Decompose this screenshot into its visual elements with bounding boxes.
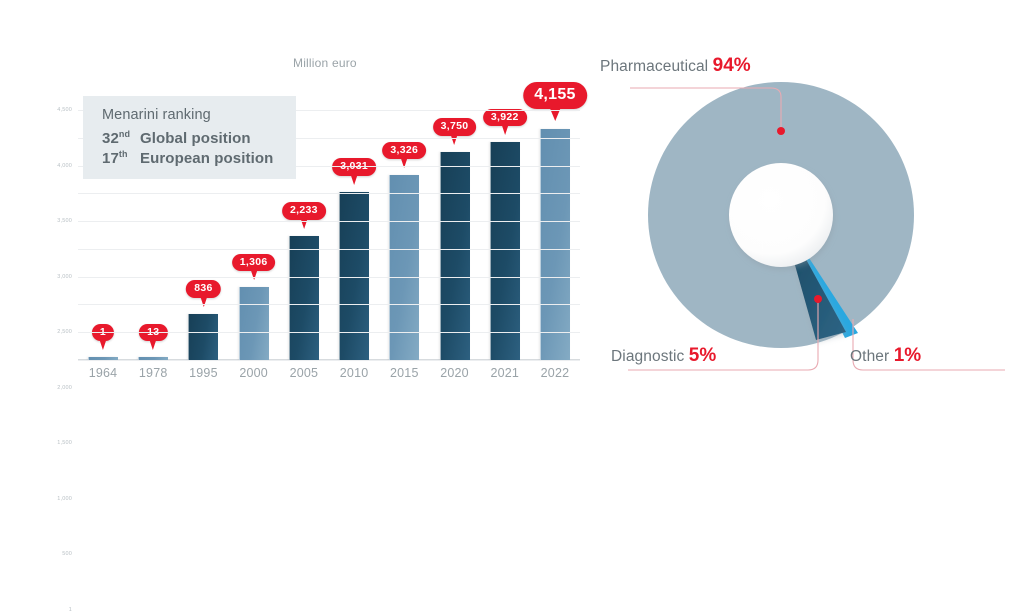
y-axis-tick-label: 4,500 — [57, 107, 72, 113]
bar-value-callout: 3,750 — [433, 118, 477, 136]
bar[interactable] — [540, 129, 570, 360]
y-axis-tick-label: 4,000 — [57, 163, 72, 169]
bar[interactable] — [239, 287, 269, 360]
ranking-european-value: 17th — [102, 149, 140, 167]
bar[interactable] — [188, 314, 218, 360]
x-axis-label: 2005 — [285, 366, 323, 380]
x-axis-label: 1978 — [134, 366, 172, 380]
bar-chart-panel: Million euro 1138361,3062,2333,0313,3263… — [0, 0, 620, 424]
gridline: 500 — [78, 332, 580, 333]
ranking-global-value: 32nd — [102, 129, 140, 147]
x-axis-labels: 1964197819952000200520102015202020212022 — [78, 366, 580, 380]
donut-chart-panel: Pharmaceutical 94% Diagnostic 5% Other 1… — [620, 0, 1015, 424]
gridline: 2,500 — [78, 221, 580, 222]
ranking-row-global: 32nd Global position — [102, 129, 296, 147]
ranking-european-label: European position — [140, 150, 273, 167]
bar-column[interactable]: 4,155 — [536, 110, 574, 360]
x-axis-label: 2021 — [486, 366, 524, 380]
bar[interactable] — [289, 236, 319, 360]
donut-chart: Pharmaceutical 94% Diagnostic 5% Other 1… — [620, 0, 1015, 424]
gridline: 3,000 — [78, 193, 580, 194]
bar-value-callout: 4,155 — [523, 82, 587, 109]
y-axis-tick-label: 500 — [62, 551, 72, 557]
y-axis-tick-label: 2,000 — [57, 385, 72, 391]
bar-value-callout: 3,031 — [332, 158, 376, 176]
y-axis-tick-label: 3,500 — [57, 218, 72, 224]
ranking-title: Menarini ranking — [102, 107, 296, 123]
bar-value-callout: 836 — [186, 280, 220, 298]
y-axis-tick-label: 1,000 — [57, 496, 72, 502]
donut-label-other: Other 1% — [850, 345, 921, 367]
menarini-ranking-box: Menarini ranking 32nd Global position 17… — [83, 96, 296, 179]
anchor-dot-diagnostic — [814, 295, 822, 303]
gridline: 1,500 — [78, 277, 580, 278]
bar[interactable] — [440, 152, 470, 360]
bar-value-callout: 3,922 — [483, 109, 527, 127]
chart-unit-label: Million euro — [293, 56, 357, 70]
anchor-dot-pharmaceutical — [777, 127, 785, 135]
gridline: 1 — [78, 360, 580, 361]
x-axis-label: 2015 — [385, 366, 423, 380]
donut-center-hole — [729, 163, 833, 267]
x-axis-label: 2000 — [235, 366, 273, 380]
bar-column[interactable]: 3,750 — [436, 110, 474, 360]
donut-label-diagnostic: Diagnostic 5% — [611, 345, 716, 367]
bar-column[interactable]: 3,031 — [335, 110, 373, 360]
x-axis-label: 1995 — [184, 366, 222, 380]
y-axis-tick-label: 1,500 — [57, 440, 72, 446]
gridline: 1,000 — [78, 304, 580, 305]
bar-value-callout: 3,326 — [382, 142, 426, 160]
bar-column[interactable]: 3,922 — [486, 110, 524, 360]
infographic-root: Million euro 1138361,3062,2333,0313,3263… — [0, 0, 1015, 424]
bar-column[interactable]: 3,326 — [385, 110, 423, 360]
gridline: 2,000 — [78, 249, 580, 250]
x-axis-label: 2020 — [436, 366, 474, 380]
y-axis-tick-label: 2,500 — [57, 329, 72, 335]
x-axis-label: 1964 — [84, 366, 122, 380]
x-axis-label: 2010 — [335, 366, 373, 380]
ranking-row-european: 17th European position — [102, 149, 296, 167]
ranking-global-label: Global position — [140, 130, 251, 147]
bar-value-callout: 1,306 — [232, 254, 276, 272]
y-axis-tick-label: 3,000 — [57, 274, 72, 280]
donut-label-pharmaceutical: Pharmaceutical 94% — [600, 55, 751, 77]
y-axis-tick-label: 1 — [69, 607, 72, 613]
bar-value-callout: 2,233 — [282, 202, 326, 220]
bar[interactable] — [490, 142, 520, 360]
x-axis-label: 2022 — [536, 366, 574, 380]
